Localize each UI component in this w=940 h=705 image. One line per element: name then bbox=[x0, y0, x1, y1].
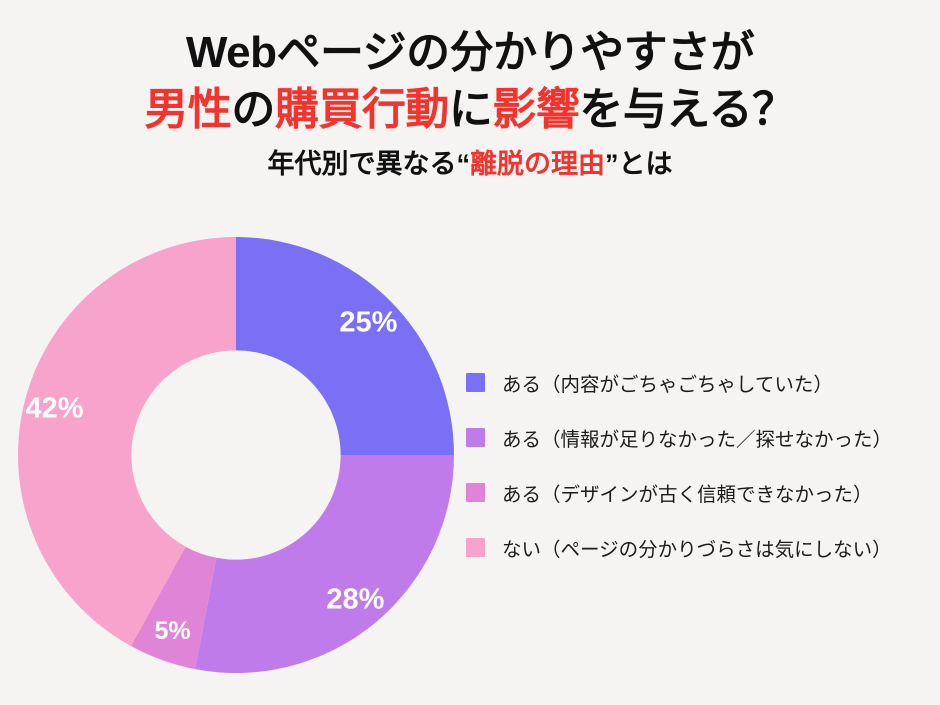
legend-swatch-icon-2 bbox=[466, 483, 485, 502]
donut-slice-1[interactable] bbox=[195, 455, 454, 673]
subtitle-accent-ridatsu: 離脱の理由 bbox=[470, 149, 605, 179]
donut-chart-svg: 25%28%5%42% bbox=[0, 220, 470, 690]
legend-label-0: ある（内容がごちゃごちゃしていた） bbox=[502, 368, 833, 397]
chart-legend: ある（内容がごちゃごちゃしていた） ある（情報が足りなかった／探せなかった） あ… bbox=[466, 355, 940, 575]
donut-slice-label-1: 28% bbox=[326, 583, 384, 615]
legend-label-3: ない（ページの分かりづらさは気にしない） bbox=[502, 533, 892, 562]
legend-item-1[interactable]: ある（情報が足りなかった／探せなかった） bbox=[466, 410, 940, 465]
title-block: Webページの分かりやすさが 男性の購買行動に影響を与える？ 年代別で異なる“離… bbox=[0, 24, 940, 182]
legend-swatch-icon-1 bbox=[466, 428, 485, 447]
legend-item-0[interactable]: ある（内容がごちゃごちゃしていた） bbox=[466, 355, 940, 410]
legend-swatch-icon-0 bbox=[466, 373, 485, 392]
title-accent-eikyou: 影響 bbox=[492, 85, 579, 134]
title-line-1: Webページの分かりやすさが bbox=[0, 24, 940, 83]
legend-label-2: ある（デザインが古く信頼できなかった） bbox=[502, 478, 873, 507]
legend-item-3[interactable]: ない（ページの分かりづらさは気にしない） bbox=[466, 520, 940, 575]
title-plain-ataeru: を与える？ bbox=[579, 85, 795, 134]
donut-slice-label-3: 42% bbox=[26, 392, 84, 424]
donut-slice-group bbox=[18, 237, 454, 673]
subtitle: 年代別で異なる“離脱の理由”とは bbox=[0, 147, 940, 182]
donut-slice-label-2: 5% bbox=[154, 617, 190, 645]
title-line-2: 男性の購買行動に影響を与える？ bbox=[0, 81, 940, 140]
donut-slice-label-0: 25% bbox=[339, 307, 397, 339]
title-accent-danseii: 男性 bbox=[144, 85, 231, 134]
legend-item-2[interactable]: ある（デザインが古く信頼できなかった） bbox=[466, 465, 940, 520]
title-plain-ni: に bbox=[449, 85, 493, 134]
donut-slice-0[interactable] bbox=[236, 237, 454, 455]
legend-label-1: ある（情報が足りなかった／探せなかった） bbox=[502, 423, 892, 452]
donut-chart: 25%28%5%42% bbox=[0, 220, 470, 690]
subtitle-prefix: 年代別で異なる“ bbox=[268, 149, 471, 179]
subtitle-suffix: ”とは bbox=[605, 149, 673, 179]
title-plain-no: の bbox=[231, 85, 275, 134]
title-accent-koubaikoudou: 購買行動 bbox=[275, 85, 449, 134]
legend-swatch-icon-3 bbox=[466, 538, 485, 557]
